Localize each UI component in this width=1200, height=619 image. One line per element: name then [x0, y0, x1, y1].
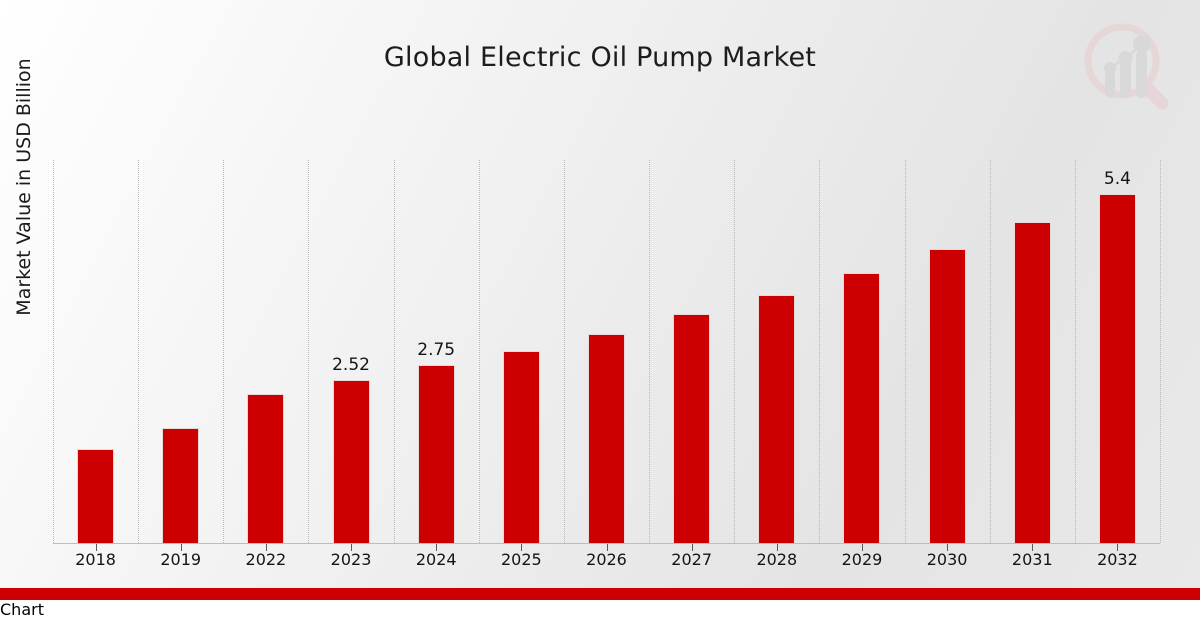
bar-2026 — [588, 334, 625, 543]
gridline — [1160, 160, 1161, 543]
bar-2024 — [418, 365, 455, 543]
page-title: Global Electric Oil Pump Market — [0, 42, 1200, 73]
x-tick-label-2032: 2032 — [1097, 550, 1138, 569]
x-tick-label-2026: 2026 — [586, 550, 627, 569]
bar-2028 — [758, 295, 795, 543]
bar-2022 — [247, 394, 284, 543]
bar-2027 — [673, 314, 710, 543]
bar-2018 — [77, 449, 114, 543]
y-axis-label: Market Value in USD Billion — [13, 0, 47, 387]
bar-value-label-2024: 2.75 — [417, 340, 455, 360]
plot-area — [53, 160, 1160, 543]
x-tick-label-2018: 2018 — [75, 550, 116, 569]
bar-2023 — [333, 380, 370, 543]
x-tick-label-2019: 2019 — [160, 550, 201, 569]
chart-figure: Global Electric Oil Pump Market Market V… — [0, 0, 1200, 600]
bar-2032 — [1099, 194, 1136, 543]
bar-2019 — [162, 428, 199, 543]
bar-value-label-2023: 2.52 — [332, 355, 370, 375]
x-tick-label-2027: 2027 — [671, 550, 712, 569]
x-tick-label-2023: 2023 — [331, 550, 372, 569]
x-tick-label-2030: 2030 — [927, 550, 968, 569]
market-research-magnifier-bars-logo-icon — [1076, 18, 1178, 120]
x-tick-label-2022: 2022 — [246, 550, 287, 569]
bar-value-label-2032: 5.4 — [1104, 169, 1131, 189]
bar-2031 — [1014, 222, 1051, 543]
bar-2025 — [503, 351, 540, 543]
bar-2030 — [929, 249, 966, 543]
x-tick-label-2025: 2025 — [501, 550, 542, 569]
x-tick-label-2029: 2029 — [842, 550, 883, 569]
footer-accent-band — [0, 588, 1200, 600]
x-tick-label-2028: 2028 — [756, 550, 797, 569]
bar-series — [53, 160, 1160, 543]
x-tick-label-2024: 2024 — [416, 550, 457, 569]
x-tick-label-2031: 2031 — [1012, 550, 1053, 569]
bar-2029 — [843, 273, 880, 543]
